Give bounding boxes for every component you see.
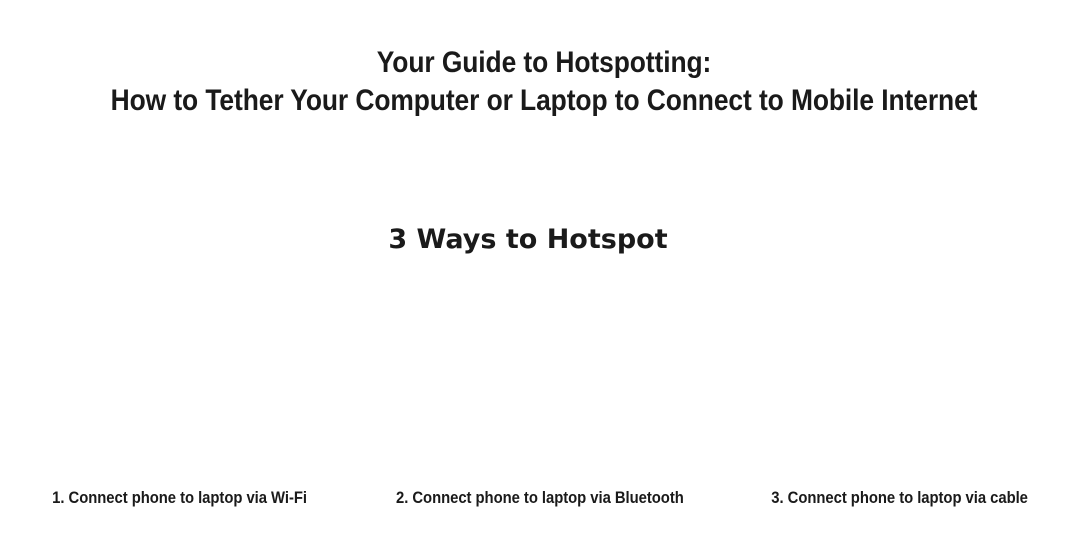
method-caption-1: 1. Connect phone to laptop via Wi-Fi — [53, 487, 308, 509]
caption-row: 1. Connect phone to laptop via Wi-Fi 2. … — [0, 487, 1080, 509]
method-item-2: 2. Connect phone to laptop via Bluetooth — [360, 487, 720, 509]
method-item-1: 1. Connect phone to laptop via Wi-Fi — [0, 487, 360, 509]
illustration-row — [0, 278, 1080, 474]
section-heading: 3 Ways to Hotspot — [388, 222, 667, 258]
page-title-line-2: How to Tether Your Computer or Laptop to… — [72, 82, 1015, 120]
page-title-line-1: Your Guide to Hotspotting: — [72, 44, 1015, 82]
cable-tethering-illustration — [720, 278, 1080, 474]
method-caption-2: 2. Connect phone to laptop via Bluetooth — [396, 487, 684, 509]
page-title: Your Guide to Hotspotting: How to Tether… — [0, 44, 1080, 120]
infographic-canvas: Your Guide to Hotspotting: How to Tether… — [0, 0, 1080, 552]
wifi-tethering-illustration — [0, 278, 360, 474]
method-item-3: 3. Connect phone to laptop via cable — [720, 487, 1080, 509]
bluetooth-tethering-illustration — [360, 278, 720, 474]
section-heading-container: 3 Ways to Hotspot — [0, 222, 1080, 258]
method-caption-3: 3. Connect phone to laptop via cable — [772, 487, 1029, 509]
